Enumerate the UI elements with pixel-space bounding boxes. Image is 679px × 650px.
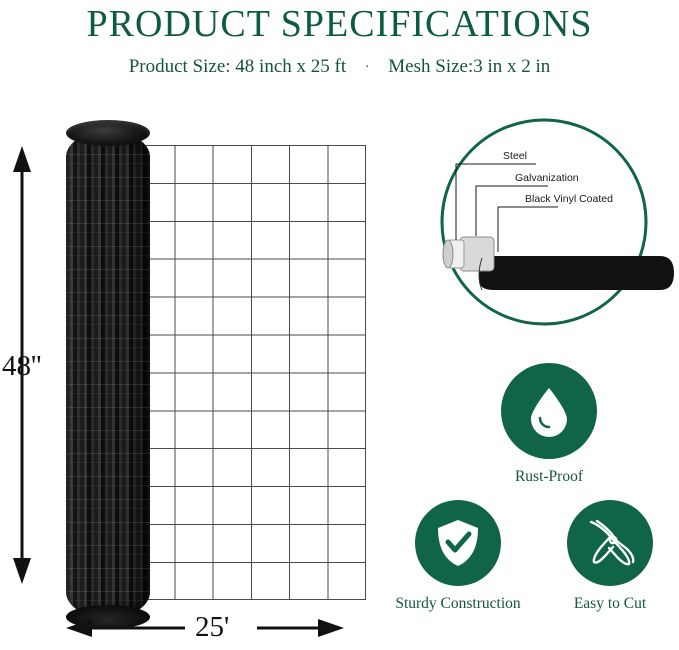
easy-to-cut-badge	[567, 500, 653, 586]
height-arrow-head-top	[13, 146, 31, 172]
fence-roll-bottom-cap	[66, 605, 150, 629]
feature-rust-proof: Rust-Proof	[461, 363, 637, 486]
callout-label-galvanization: Galvanization	[515, 172, 579, 184]
wire-mesh-panel	[136, 145, 366, 600]
pliers-icon	[583, 518, 637, 568]
product-size-text: Product Size: 48 inch x 25 ft	[129, 56, 346, 77]
callout-label-black-vinyl: Black Vinyl Coated	[525, 193, 613, 205]
sturdy-construction-badge	[415, 500, 501, 586]
callout-circle	[442, 120, 646, 324]
sturdy-construction-label: Sturdy Construction	[370, 595, 546, 613]
feature-easy-to-cut: Easy to Cut	[541, 500, 679, 613]
fence-roll	[66, 131, 150, 618]
height-arrow-head-bottom	[13, 558, 31, 584]
page-title: PRODUCT SPECIFICATIONS	[0, 2, 679, 46]
wire-construction-callout: Steel Galvanization Black Vinyl Coated	[424, 118, 674, 326]
black-vinyl-layer	[479, 246, 674, 290]
galvanization-layer	[460, 237, 494, 271]
height-dimension-label: 48''	[2, 350, 41, 383]
product-spec-infographic: PRODUCT SPECIFICATIONS Product Size: 48 …	[0, 0, 679, 650]
water-drop-icon	[525, 385, 573, 437]
wire-cross-section	[443, 237, 674, 290]
width-dimension-label: 25'	[195, 611, 229, 644]
separator-dot: ·	[365, 60, 370, 76]
mesh-bottom-edge	[136, 599, 366, 600]
rust-proof-badge	[501, 363, 597, 459]
shield-check-icon	[435, 518, 481, 568]
width-arrow-head-right	[318, 619, 344, 637]
fence-roll-rings	[66, 131, 150, 618]
callout-label-steel: Steel	[503, 150, 527, 162]
feature-sturdy-construction: Sturdy Construction	[370, 500, 546, 613]
mesh-grid	[136, 145, 366, 600]
mesh-right-edge	[365, 145, 366, 600]
spec-subtitle: Product Size: 48 inch x 25 ft · Mesh Siz…	[0, 56, 679, 78]
mesh-size-text: Mesh Size:3 in x 2 in	[388, 56, 550, 77]
fence-roll-top-cap	[66, 120, 150, 146]
rust-proof-label: Rust-Proof	[461, 468, 637, 486]
steel-core-face	[443, 240, 453, 268]
easy-to-cut-label: Easy to Cut	[541, 595, 679, 613]
